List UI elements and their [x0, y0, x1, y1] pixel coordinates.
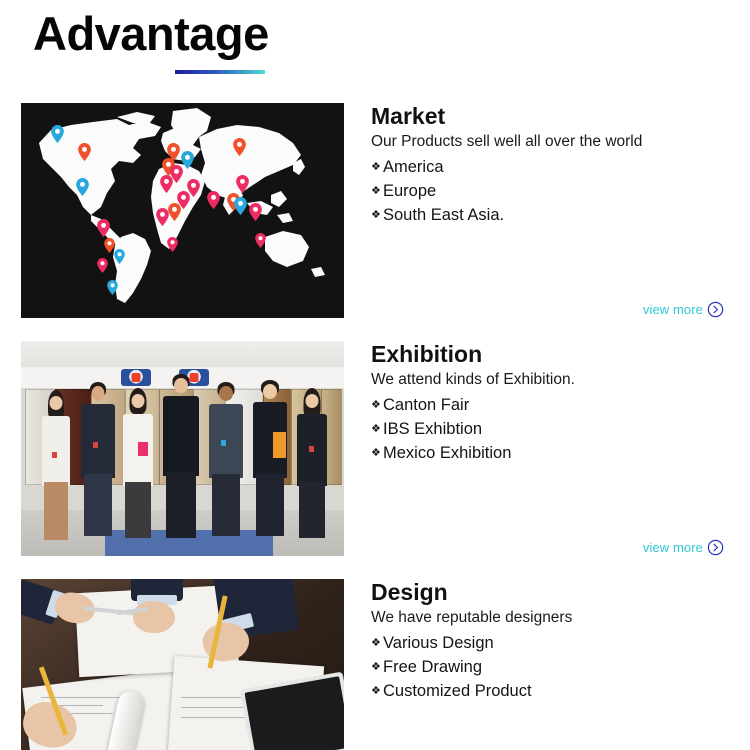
- person: [295, 388, 329, 538]
- map-pin-pink: [97, 219, 110, 237]
- map-pin-pink: [160, 175, 173, 193]
- booth-logo-icon: [121, 369, 151, 386]
- diamond-bullet-icon: ❖: [371, 203, 381, 227]
- market-thumbnail[interactable]: [21, 103, 344, 318]
- diamond-bullet-icon: ❖: [371, 679, 381, 703]
- team-photo-at-exhibition-booth: [21, 341, 344, 556]
- list-item-label: Canton Fair: [383, 396, 469, 414]
- list-item-label: Customized Product: [383, 682, 532, 700]
- map-landmass-shapes: [21, 103, 344, 318]
- map-pin-orange: [233, 138, 246, 156]
- view-more-link-exhibition[interactable]: view more: [643, 539, 724, 556]
- map-pin-cyan: [76, 178, 89, 196]
- diamond-bullet-icon: ❖: [371, 441, 381, 465]
- world-map-with-location-pins: [21, 103, 344, 318]
- hand: [133, 601, 175, 633]
- person: [251, 380, 289, 538]
- list-item-label: IBS Exhibtion: [383, 420, 482, 438]
- map-pin-pink: [156, 208, 169, 226]
- section-design: Design We have reputable designers ❖Vari…: [0, 579, 750, 750]
- map-pin-pink: [255, 233, 266, 248]
- list-item: ❖Customized Product: [371, 679, 733, 703]
- map-pin-cyan: [234, 197, 247, 215]
- list-item-label: Free Drawing: [383, 658, 482, 676]
- exhibition-thumbnail[interactable]: [21, 341, 344, 556]
- map-pin-cyan: [107, 280, 118, 295]
- map-pin-pink: [236, 175, 249, 193]
- diamond-bullet-icon: ❖: [371, 631, 381, 655]
- chevron-right-circle-icon: [707, 539, 724, 556]
- view-more-label: view more: [643, 541, 703, 555]
- chevron-right-circle-icon: [707, 301, 724, 318]
- designers-hands-drawing-blueprints: [21, 579, 344, 750]
- map-pin-cyan: [114, 249, 125, 264]
- list-item-label: America: [383, 158, 444, 176]
- map-pin-cyan: [51, 125, 64, 143]
- map-pin-pink: [207, 191, 220, 209]
- design-thumbnail[interactable]: [21, 579, 344, 750]
- person: [39, 390, 73, 538]
- exhibition-bullet-list: ❖Canton Fair ❖IBS Exhibtion ❖Mexico Exhi…: [371, 393, 733, 465]
- market-bullet-list: ❖America ❖Europe ❖South East Asia.: [371, 155, 733, 227]
- list-item: ❖Various Design: [371, 631, 733, 655]
- list-item-label: Mexico Exhibition: [383, 444, 511, 462]
- person: [121, 388, 155, 538]
- page-header: Advantage: [33, 6, 733, 86]
- design-text-block: Design We have reputable designers ❖Vari…: [371, 579, 733, 703]
- booth-scene: [21, 341, 344, 556]
- advantage-page: Advantage: [0, 0, 750, 750]
- map-pin-pink: [167, 237, 178, 252]
- section-subtitle: Our Products sell well all over the worl…: [371, 131, 733, 153]
- list-item: ❖Europe: [371, 179, 733, 203]
- person: [79, 382, 117, 538]
- section-heading: Market: [371, 103, 733, 130]
- list-item: ❖IBS Exhibtion: [371, 417, 733, 441]
- list-item-label: Europe: [383, 182, 436, 200]
- title-underline-rule: [175, 70, 265, 74]
- design-bullet-list: ❖Various Design ❖Free Drawing ❖Customize…: [371, 631, 733, 703]
- section-subtitle: We attend kinds of Exhibition.: [371, 369, 733, 391]
- diamond-bullet-icon: ❖: [371, 417, 381, 441]
- market-text-block: Market Our Products sell well all over t…: [371, 103, 733, 227]
- list-item: ❖Mexico Exhibition: [371, 441, 733, 465]
- exhibition-text-block: Exhibition We attend kinds of Exhibition…: [371, 341, 733, 465]
- section-market: Market Our Products sell well all over t…: [0, 103, 750, 335]
- view-more-label: view more: [643, 303, 703, 317]
- diamond-bullet-icon: ❖: [371, 393, 381, 417]
- list-item-label: Various Design: [383, 634, 494, 652]
- diamond-bullet-icon: ❖: [371, 179, 381, 203]
- person: [161, 374, 201, 538]
- section-heading: Design: [371, 579, 733, 606]
- list-item-label: South East Asia.: [383, 206, 504, 224]
- section-heading: Exhibition: [371, 341, 733, 368]
- desk-scene: [21, 579, 344, 750]
- list-item: ❖South East Asia.: [371, 203, 733, 227]
- map-pin-orange: [168, 203, 181, 221]
- map-pin-orange: [78, 143, 91, 161]
- list-item: ❖Canton Fair: [371, 393, 733, 417]
- person: [207, 382, 245, 538]
- diamond-bullet-icon: ❖: [371, 155, 381, 179]
- tablet-screen: [244, 676, 344, 750]
- page-title: Advantage: [33, 6, 733, 62]
- section-subtitle: We have reputable designers: [371, 607, 733, 629]
- diamond-bullet-icon: ❖: [371, 655, 381, 679]
- list-item: ❖America: [371, 155, 733, 179]
- section-exhibition: Exhibition We attend kinds of Exhibition…: [0, 341, 750, 573]
- list-item: ❖Free Drawing: [371, 655, 733, 679]
- map-pin-pink: [97, 258, 108, 273]
- view-more-link-market[interactable]: view more: [643, 301, 724, 318]
- map-pin-pink: [249, 203, 262, 221]
